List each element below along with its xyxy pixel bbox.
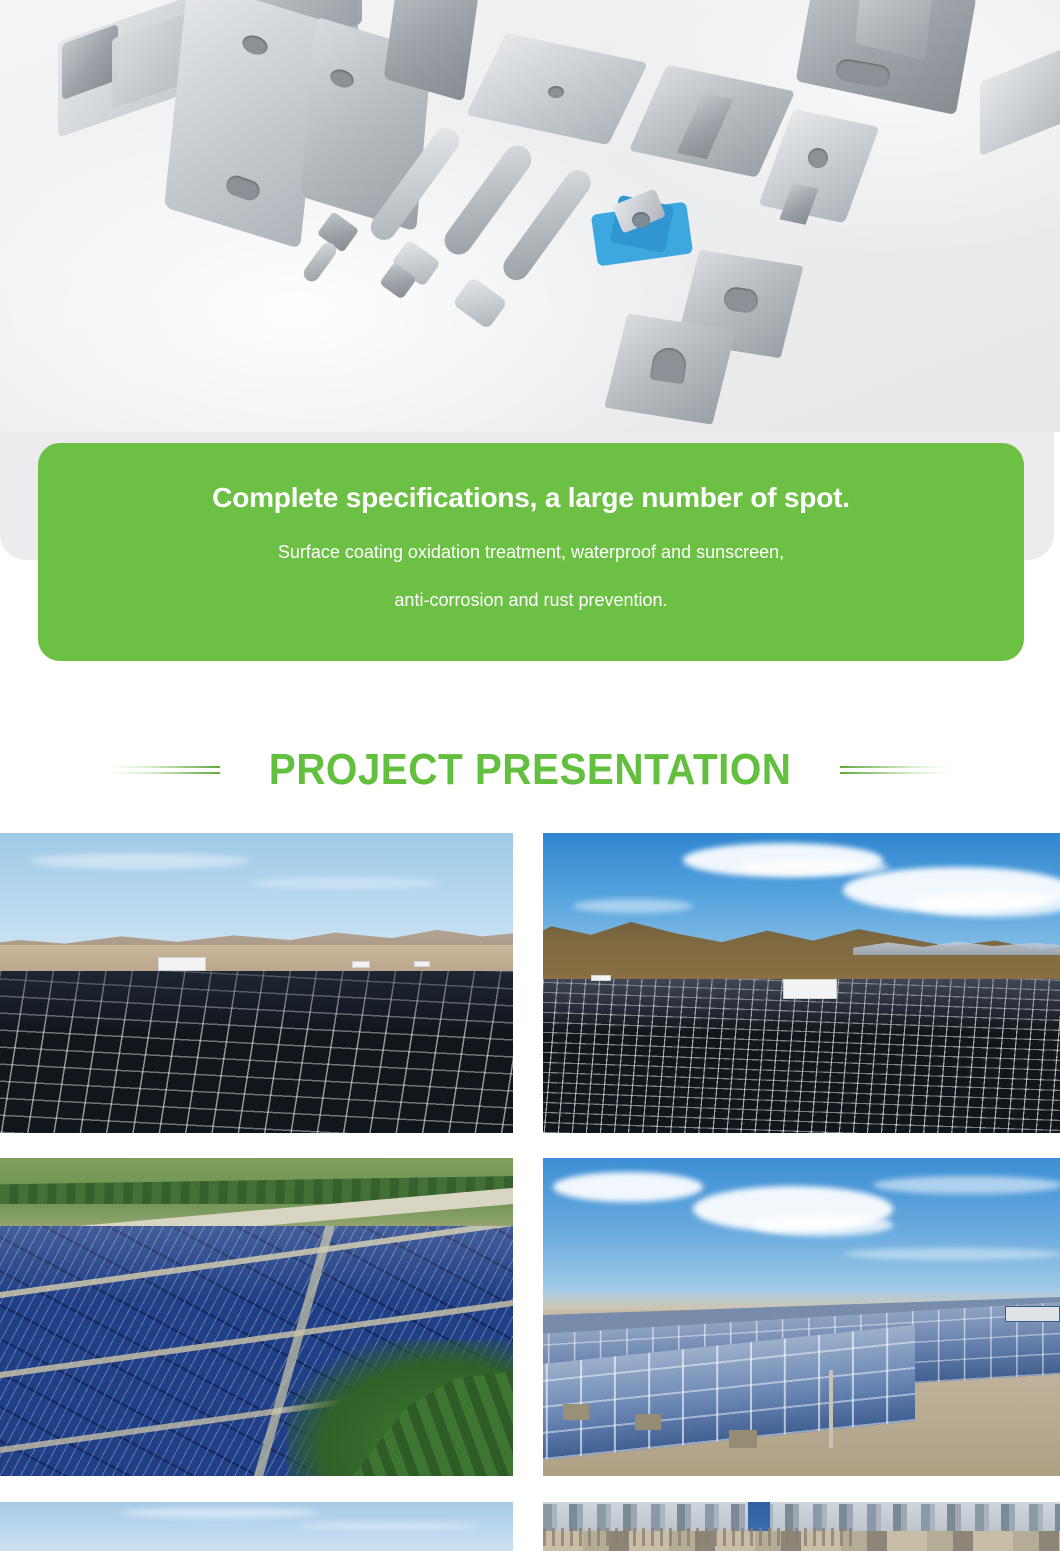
- cloud: [843, 1248, 1060, 1260]
- hero-section: Complete specifications, a large number …: [0, 0, 1060, 700]
- project-gallery: [0, 833, 1060, 1551]
- gallery-image-plateau-solar-farm[interactable]: [543, 833, 1060, 1133]
- section-title: PROJECT PRESENTATION: [269, 748, 792, 792]
- project-presentation-heading: PROJECT PRESENTATION: [0, 722, 1060, 818]
- cloud: [250, 877, 440, 889]
- cloud: [120, 1508, 320, 1518]
- bare-trees: [543, 1528, 853, 1546]
- site-building: [1005, 1306, 1060, 1322]
- banner-subline-2: anti-corrosion and rust prevention.: [78, 589, 984, 612]
- cloud: [300, 1522, 480, 1530]
- solar-mounting-hardware-photo: [0, 0, 1060, 432]
- cloud: [739, 859, 889, 875]
- inverter-building: [158, 957, 206, 971]
- inverter-building: [352, 961, 370, 968]
- cloud: [553, 1172, 703, 1202]
- inverter-building: [414, 961, 430, 967]
- banner-subline-1: Surface coating oxidation treatment, wat…: [78, 541, 984, 564]
- spring-nut-thread-hole: [632, 212, 650, 228]
- cloud: [753, 1214, 893, 1236]
- cloud: [573, 899, 693, 913]
- right-flourish-icon: [840, 763, 952, 777]
- gallery-image-ground-mount-array[interactable]: [543, 1158, 1060, 1476]
- concrete-footing: [729, 1430, 757, 1448]
- support-strut: [829, 1370, 833, 1448]
- gallery-image-desert-solar-farm[interactable]: [0, 833, 513, 1133]
- solar-panel-field: [0, 971, 513, 1133]
- cloud: [30, 853, 250, 869]
- left-flourish-icon: [108, 763, 220, 777]
- gallery-image-city-skyline-partial[interactable]: [543, 1502, 1060, 1551]
- concrete-footing: [635, 1414, 661, 1430]
- banner-headline: Complete specifications, a large number …: [78, 481, 984, 515]
- concrete-footing: [563, 1404, 589, 1420]
- gallery-image-aerial-solar-farm[interactable]: [0, 1158, 513, 1476]
- gallery-image-sky-partial[interactable]: [0, 1502, 513, 1551]
- solar-panel-field: [543, 979, 1060, 1133]
- inverter-building: [783, 979, 837, 999]
- t-block-hole: [808, 148, 828, 168]
- mid-clamp-hole: [548, 86, 564, 98]
- cloud: [873, 1176, 1060, 1194]
- cloud: [913, 891, 1060, 917]
- specifications-banner: Complete specifications, a large number …: [38, 443, 1024, 661]
- inverter-building: [591, 975, 611, 981]
